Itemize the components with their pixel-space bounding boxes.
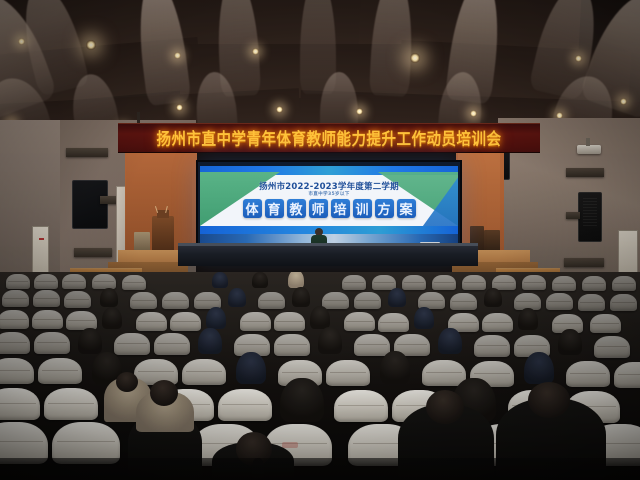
seat [546, 293, 573, 310]
seat [2, 290, 29, 307]
seat [240, 312, 271, 331]
head-table-edge [178, 243, 478, 246]
slide-band-bottom [200, 226, 458, 234]
attendee [100, 288, 118, 307]
seat [136, 312, 167, 331]
attendee [280, 378, 324, 422]
wall-shelf [564, 258, 604, 267]
left-wall-panel [0, 120, 60, 285]
ceiling-downlight [174, 52, 181, 59]
ceiling-downlight [252, 48, 259, 55]
wall-shelf [66, 148, 108, 157]
seat [33, 290, 60, 307]
slide-char-box: 育 [265, 199, 284, 218]
attendee [292, 287, 310, 307]
presentation-slide: 扬州市2022-2023学年度第二学期 市直中学35岁以下 体 育 教 师 培 … [200, 166, 458, 234]
seat [378, 313, 409, 332]
cabinet-indicator [39, 238, 44, 240]
seat [322, 292, 349, 309]
seat [154, 333, 190, 355]
seat [38, 358, 82, 384]
seat [32, 310, 63, 329]
slide-char-box: 师 [309, 199, 328, 218]
head-table [178, 243, 478, 266]
seat [354, 292, 381, 309]
seat [274, 334, 310, 356]
attendee [414, 307, 434, 329]
seat [44, 388, 98, 420]
slide-char-box: 训 [353, 199, 372, 218]
attendee-head [150, 380, 178, 406]
seat [182, 359, 226, 385]
wall-monitor [72, 180, 108, 229]
seat [522, 275, 546, 290]
attendee [288, 272, 304, 288]
stage-chair [134, 232, 150, 252]
ceiling-downlight [410, 53, 420, 63]
event-banner: 扬州市直中学青年体育教师能力提升工作动员培训会 [118, 123, 540, 153]
wall-speaker [578, 192, 602, 242]
slide-subtitle: 市直中学35岁以下 [200, 191, 458, 197]
attendee [558, 329, 582, 355]
slide-main-heading: 体 育 教 师 培 训 方 案 [200, 199, 458, 218]
wall-shelf [74, 248, 112, 257]
seat [34, 332, 70, 354]
attendee [438, 328, 462, 354]
seat [566, 361, 610, 387]
seat [462, 275, 486, 290]
ceiling-downlight [18, 38, 25, 45]
seat [0, 388, 40, 420]
ceiling-downlight [86, 40, 96, 50]
attendee [206, 307, 226, 329]
attendee [102, 307, 122, 329]
seat [552, 276, 576, 291]
seat [62, 274, 86, 289]
slide-char-box: 案 [397, 199, 416, 218]
seat [258, 292, 285, 309]
seat [594, 336, 630, 358]
seat [92, 274, 116, 289]
seat [432, 275, 456, 290]
seat [64, 291, 91, 308]
seat [162, 292, 189, 309]
slide-char-box: 体 [243, 199, 262, 218]
attendee [388, 288, 406, 307]
slide-char-box: 教 [287, 199, 306, 218]
seat [590, 314, 621, 333]
auditorium-photo: 扬州市直中学青年体育教师能力提升工作动员培训会 扬州市2022-2023学年度第… [0, 0, 640, 480]
seat [402, 275, 426, 290]
projector-mount [586, 138, 590, 146]
seat [114, 333, 150, 355]
seat [610, 294, 637, 311]
attendee [212, 272, 228, 288]
attendee-head [528, 382, 570, 418]
seat [170, 312, 201, 331]
ceiling-downlight [176, 104, 183, 111]
seat [334, 390, 388, 422]
seat [6, 274, 30, 289]
attendee [380, 351, 410, 384]
attendee [318, 327, 342, 354]
seat [122, 275, 146, 290]
seat [344, 312, 375, 331]
slide-char-box: 方 [375, 199, 394, 218]
foreground-shadow [0, 458, 640, 480]
seat [450, 293, 477, 310]
seat [274, 312, 305, 331]
slide-char-box: 培 [331, 199, 350, 218]
ceiling-downlight [575, 55, 582, 62]
seat-number-marker [282, 442, 298, 448]
ceiling-projector [577, 145, 601, 154]
seat [354, 334, 390, 356]
ceiling-downlight [620, 98, 627, 105]
ceiling-downlight [356, 108, 363, 115]
seat [474, 335, 510, 357]
ceiling-downlight [470, 110, 477, 117]
attendee-head [426, 390, 464, 424]
attendee-head [116, 372, 138, 392]
podium-top [157, 210, 169, 218]
seat [482, 313, 513, 332]
seat [342, 275, 366, 290]
seat [34, 274, 58, 289]
stage-chair [484, 230, 500, 252]
attendee [524, 352, 554, 384]
attendee [310, 306, 330, 329]
seat [578, 294, 605, 311]
attendee [78, 328, 102, 354]
seat [582, 276, 606, 291]
seat [612, 276, 636, 291]
seat [218, 389, 272, 421]
banner-text: 扬州市直中学青年体育教师能力提升工作动员培训会 [157, 126, 502, 150]
seat [326, 360, 370, 386]
podium [152, 216, 174, 250]
attendee [484, 288, 502, 307]
seat [614, 362, 640, 388]
seat [0, 358, 34, 384]
attendee [236, 352, 266, 384]
ceiling-beam [369, 0, 415, 97]
wall-shelf [566, 212, 580, 219]
attendee [252, 272, 268, 288]
ceiling-downlight [276, 106, 283, 113]
seat [0, 310, 29, 329]
seat [130, 292, 157, 309]
audience-seating [0, 272, 640, 480]
attendee [518, 308, 538, 330]
attendee [228, 288, 246, 307]
wall-shelf [566, 168, 604, 177]
attendee [198, 328, 222, 354]
seat [0, 332, 30, 354]
